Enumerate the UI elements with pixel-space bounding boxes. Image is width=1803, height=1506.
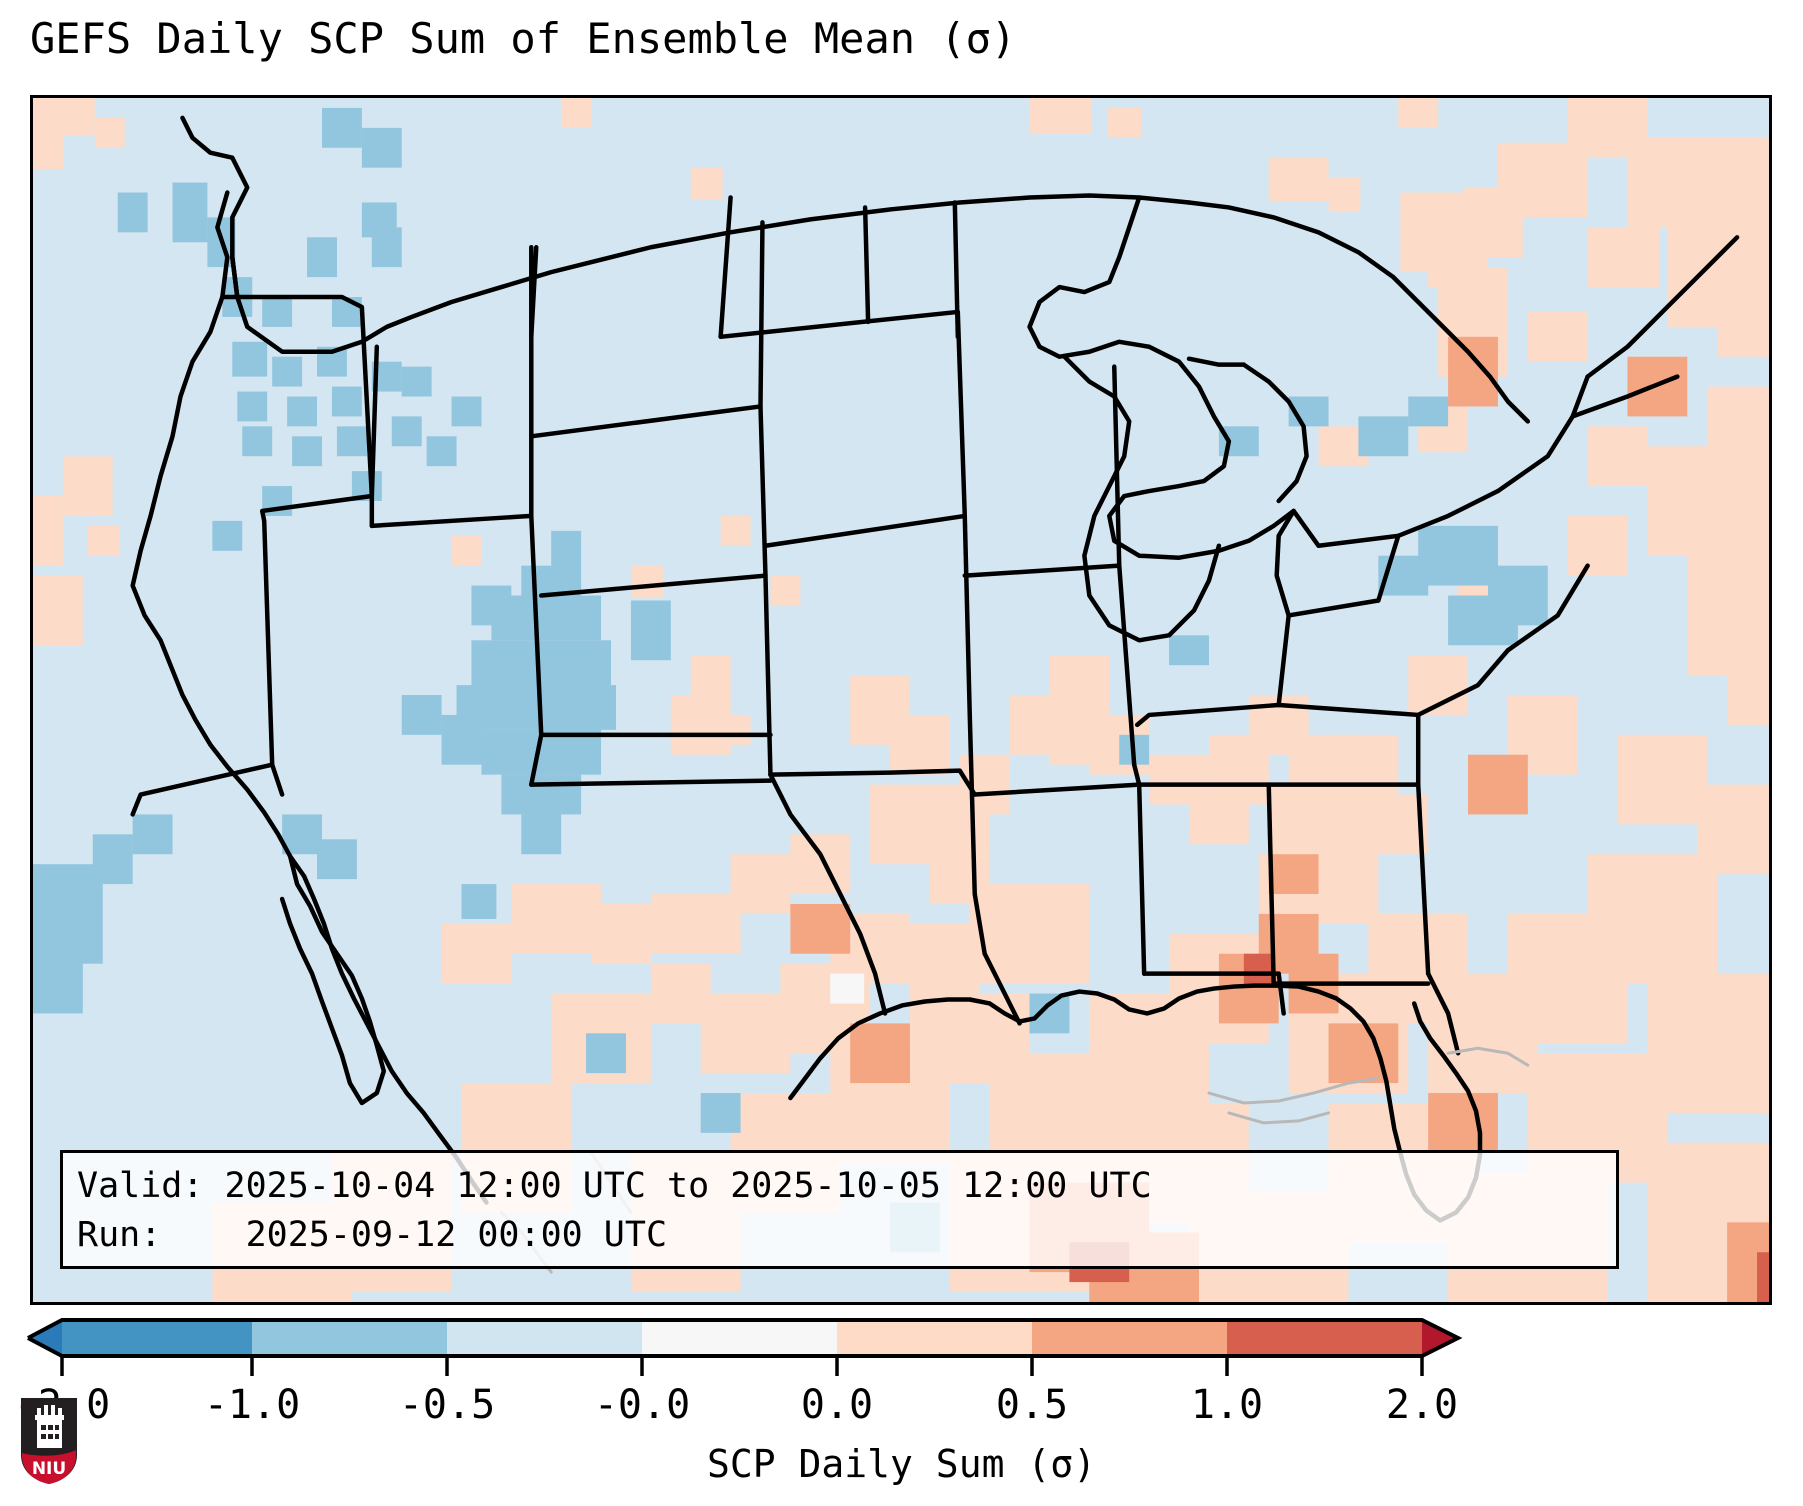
colorbar-seg--1.0--0.5 (252, 1320, 447, 1356)
colorbar-seg-0.5-1.0 (1032, 1320, 1227, 1356)
map-plot-area (30, 95, 1772, 1305)
niu-wordmark: NIU (32, 1459, 66, 1479)
colorbar-seg--0.5--0.0 (447, 1320, 642, 1356)
annotation-box: Valid: 2025-10-04 12:00 UTC to 2025-10-0… (60, 1150, 1619, 1269)
colorbar-axis-label: SCP Daily Sum (σ) (0, 1442, 1803, 1486)
niu-logo: NIU (18, 1395, 80, 1487)
colorbar-segments (28, 1320, 1458, 1356)
cbar-tick-3: -0.0 (594, 1382, 690, 1428)
valid-time-line: Valid: 2025-10-04 12:00 UTC to 2025-10-0… (77, 1162, 1602, 1211)
cbar-tick-6: 1.0 (1191, 1382, 1263, 1428)
cbar-tick-7: 2.0 (1386, 1382, 1458, 1428)
colorbar: -2.0 -1.0 -0.5 -0.0 0.0 0.5 1.0 2.0 SCP … (0, 1310, 1803, 1506)
run-time-line: Run: 2025-09-12 00:00 UTC (77, 1211, 1602, 1260)
colorbar-svg: -2.0 -1.0 -0.5 -0.0 0.0 0.5 1.0 2.0 (0, 1310, 1803, 1440)
colorbar-tick-labels: -2.0 -1.0 -0.5 -0.0 0.0 0.5 1.0 2.0 (14, 1382, 1458, 1428)
colorbar-seg--2.0--1.0 (62, 1320, 252, 1356)
colorbar-seg--0.0-0.0 (642, 1320, 837, 1356)
page-title: GEFS Daily SCP Sum of Ensemble Mean (σ) (30, 14, 1016, 63)
cbar-tick-1: -1.0 (204, 1382, 300, 1428)
colorbar-under-arrow (28, 1320, 62, 1356)
cbar-tick-5: 0.5 (996, 1382, 1068, 1428)
cbar-tick-2: -0.5 (399, 1382, 495, 1428)
cbar-tick-4: 0.0 (801, 1382, 873, 1428)
colorbar-seg-1.0-2.0 (1227, 1320, 1422, 1356)
colorbar-seg-0.0-0.5 (837, 1320, 1032, 1356)
colorbar-over-arrow (1422, 1320, 1458, 1356)
heatmap-cells-neutral (830, 974, 864, 1004)
scp-anomaly-heatmap (33, 98, 1769, 1302)
colorbar-ticks (62, 1356, 1422, 1376)
